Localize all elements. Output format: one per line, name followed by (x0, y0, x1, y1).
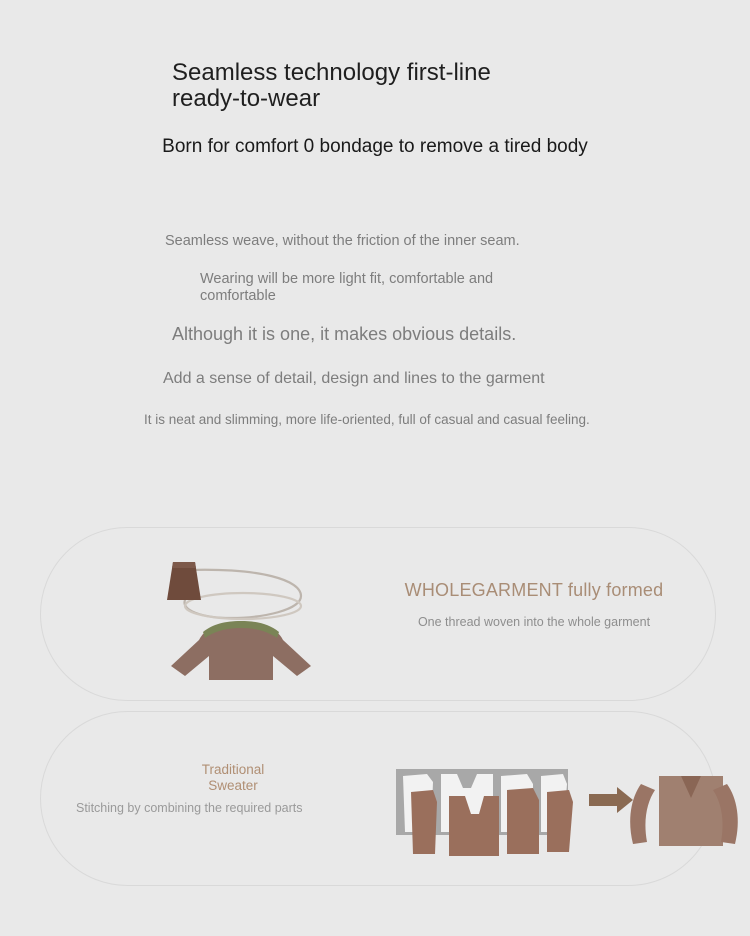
feature-line-3: Although it is one, it makes obvious det… (172, 324, 516, 345)
feature-line-1: Seamless weave, without the friction of … (165, 233, 520, 249)
traditional-sweater-subtitle: Stitching by combining the required part… (76, 800, 356, 816)
panels-to-sweater-illustration (341, 732, 701, 862)
page-title-line-2: ready-to-wear (172, 86, 592, 112)
traditional-sweater-text: Traditional Sweater Stitching by combini… (76, 762, 376, 816)
card-traditional-sweater: Traditional Sweater Stitching by combini… (40, 711, 716, 886)
page-title-line-1: Seamless technology first-line (172, 59, 491, 86)
traditional-sweater-title: Traditional Sweater (118, 762, 348, 794)
page-title: Seamless technology first-line ready-to-… (172, 60, 592, 112)
feature-line-2: Wearing will be more light fit, comforta… (200, 271, 560, 305)
traditional-title-line-2: Sweater (208, 778, 258, 793)
card-wholegarment: WHOLEGARMENT fully formed One thread wov… (40, 527, 716, 701)
wholegarment-title: WHOLEGARMENT fully formed (359, 580, 709, 601)
page-subtitle: Born for comfort 0 bondage to remove a t… (0, 136, 750, 158)
wholegarment-subtitle: One thread woven into the whole garment (359, 615, 709, 629)
feature-line-4: Add a sense of detail, design and lines … (163, 370, 545, 388)
traditional-title-line-1: Traditional (202, 762, 265, 777)
feature-line-5: It is neat and slimming, more life-orien… (144, 411, 594, 428)
wholegarment-text: WHOLEGARMENT fully formed One thread wov… (359, 580, 709, 629)
product-detail-page: Seamless technology first-line ready-to-… (0, 0, 750, 936)
seamless-sweater-illustration (151, 548, 331, 683)
